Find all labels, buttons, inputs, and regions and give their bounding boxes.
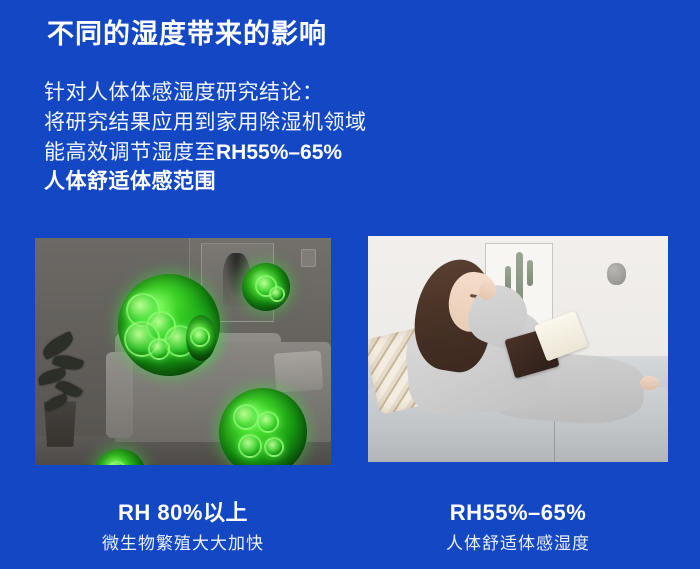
photo-high-humidity xyxy=(35,238,331,465)
body-line-3: 能高效调节湿度至RH55%–65% xyxy=(44,138,367,168)
microbe-bump xyxy=(233,404,259,430)
body-line-3-highlight: RH55%–65% xyxy=(216,141,342,164)
caption-right-main: RH55%–65% xyxy=(368,500,668,526)
slide-root: 不同的湿度带来的影响 针对人体体感湿度研究结论： 将研究结果应用到家用除湿机领域… xyxy=(0,0,700,569)
page-title: 不同的湿度带来的影响 xyxy=(47,19,327,50)
caption-left-main: RH 80%以上 xyxy=(33,500,333,526)
caption-left-sub: 微生物繁殖大大加快 xyxy=(33,534,333,554)
microbe-bump xyxy=(148,338,170,360)
photo-comfort-humidity xyxy=(368,236,668,462)
microbe-cluster-lower xyxy=(219,388,307,465)
microbe-partial-edge xyxy=(186,315,216,361)
caption-right-sub: 人体舒适体感湿度 xyxy=(368,534,668,554)
body-line-4: 人体舒适体感范围 xyxy=(44,167,367,197)
sofa-cushion xyxy=(273,350,323,392)
microbe-bump xyxy=(107,461,127,465)
microbe-bump xyxy=(238,434,262,458)
body-line-2: 将研究结果应用到家用除湿机领域 xyxy=(44,108,367,138)
microbe-bump xyxy=(269,286,285,302)
scene-dim-room xyxy=(35,238,331,465)
microbe-bump xyxy=(264,437,284,457)
microbe-bump xyxy=(257,411,279,433)
caption-comfort-humidity: RH55%–65% 人体舒适体感湿度 xyxy=(368,500,668,555)
caption-high-humidity: RH 80%以上 微生物繁殖大大加快 xyxy=(33,500,333,555)
microbe-small-upper xyxy=(242,263,290,311)
body-line-1: 针对人体体感湿度研究结论： xyxy=(44,78,367,108)
scene-bright-room xyxy=(368,236,668,462)
wall-switch xyxy=(301,249,316,267)
woman-foot xyxy=(640,376,659,390)
wall-speaker xyxy=(607,263,626,285)
sofa-armrest xyxy=(106,352,133,438)
body-line-3-prefix: 能高效调节湿度至 xyxy=(44,141,216,164)
body-copy: 针对人体体感湿度研究结论： 将研究结果应用到家用除湿机领域 能高效调节湿度至RH… xyxy=(44,78,367,197)
microbe-bump xyxy=(190,327,210,347)
